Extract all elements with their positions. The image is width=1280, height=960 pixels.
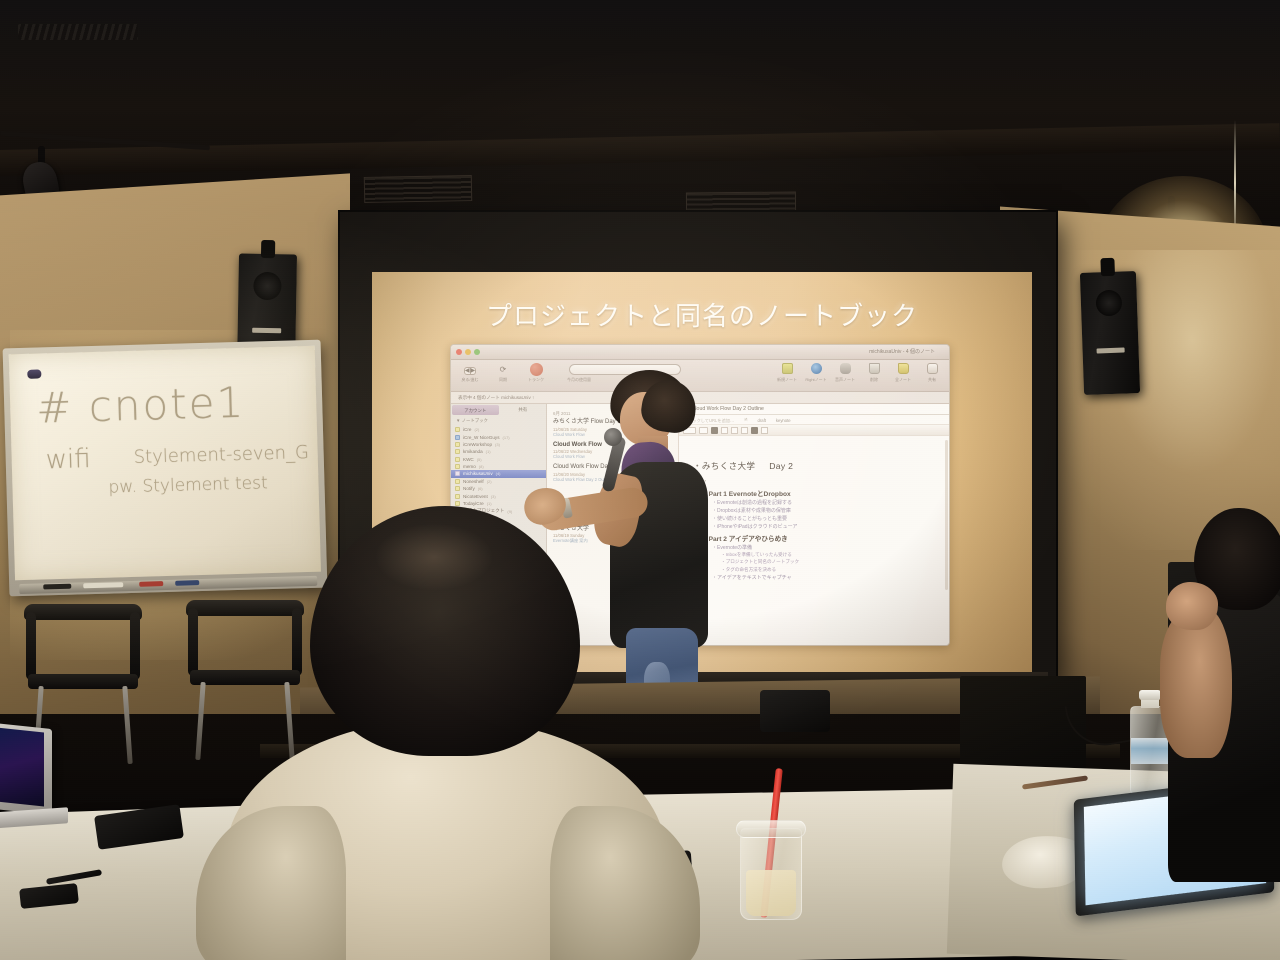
speaker-right — [1080, 271, 1140, 395]
editor-line: みちくさ大学Day 2 — [693, 460, 943, 472]
speaker-left-mount — [261, 240, 275, 258]
speaker-right-brand — [1097, 348, 1125, 354]
new-note-icon[interactable] — [782, 363, 793, 374]
share-icon[interactable] — [927, 363, 938, 374]
editor-meta-bar: クリックしてURLを追加… 🗎 draft keynote — [679, 415, 949, 425]
notebook-icon — [455, 427, 460, 432]
toolbar-audio-note-label: 音声ノート — [833, 377, 857, 383]
ceiling-grille-left — [18, 24, 138, 40]
notebook-count: (8) — [479, 464, 484, 469]
chair-backrest — [24, 604, 142, 620]
speaker-right-driver — [1096, 290, 1123, 317]
notebook-icon — [455, 486, 460, 491]
spotlight-arm-right — [1168, 196, 1175, 212]
tag-chip[interactable]: draft — [758, 418, 766, 423]
slide-title: プロジェクトと同名のノートブック — [372, 296, 1032, 333]
notebook-row[interactable]: Noneshelf(2) — [451, 478, 546, 485]
notebook-count: (5) — [477, 457, 482, 462]
notebook-row[interactable]: kmikanda(1) — [451, 448, 546, 455]
minimize-icon[interactable] — [465, 349, 471, 355]
notebook-count: (17) — [503, 435, 510, 440]
notebook-name: NicoteEvent — [463, 494, 488, 499]
toolbar-right-group: 新規ノート Rightノート 音声ノート 削除 — [775, 363, 944, 383]
note-snippet: Cloud Work Flow — [553, 432, 673, 437]
editor-note-title: Cloud Work Flow Day 2 Outline — [692, 406, 764, 412]
notebook-name: memo — [463, 464, 476, 469]
editor-line-trailing: Day 2 — [769, 461, 793, 471]
audience-right-hand — [1166, 582, 1218, 630]
font-family-select[interactable] — [683, 427, 696, 434]
bullet-list-icon[interactable] — [761, 427, 768, 434]
bold-icon[interactable] — [711, 427, 718, 434]
notebook-name: iCre_W NiceGuys — [463, 435, 500, 440]
whiteboard-wifi-label: wifi — [45, 444, 91, 475]
notebook-row[interactable]: iCre_W NiceGuys(17) — [451, 433, 546, 440]
speaker-right-mount — [1100, 258, 1115, 276]
sidebar-section-header: ▼ ノートブック — [451, 416, 546, 426]
notebook-icon — [455, 479, 460, 484]
whiteboard-wifi-ssid: Stylement-seven_G — [133, 442, 309, 468]
toolbar-sync[interactable]: ⟳ 同期 — [490, 363, 516, 383]
toolbar-share[interactable]: 共有 — [920, 363, 944, 383]
whiteboard-marker-red — [139, 581, 163, 587]
all-notes-icon[interactable] — [898, 363, 909, 374]
color-picker-icon[interactable] — [751, 427, 758, 434]
notebook-icon — [455, 442, 460, 447]
laptop-left-screen — [0, 727, 44, 806]
sync-icon[interactable]: ⟳ — [490, 363, 516, 376]
editor-line-blank — [702, 475, 943, 485]
notebook-icon — [455, 494, 460, 499]
notebook-name: iCreWorkshop — [463, 442, 492, 447]
toolbar-right-note-label: Rightノート — [804, 377, 828, 383]
note-title: Cloud Work Flow Day 2 — [553, 464, 673, 472]
trash-icon[interactable] — [869, 363, 880, 374]
notebook-count: (1) — [486, 449, 491, 454]
toolbar-usage-label: 今月の使用量 — [556, 377, 602, 383]
toolbar-new-note[interactable]: 新規ノート — [775, 363, 799, 383]
speaker-left-brand — [252, 328, 281, 334]
attachment-icon: 🗎 — [744, 417, 747, 424]
whiteboard-magnet — [27, 369, 41, 378]
note-list-date-header: 6月 2011 — [553, 411, 673, 417]
notebook-name: iCre — [463, 427, 471, 432]
audience-shoulder-left — [196, 806, 346, 960]
bottle-cap — [1139, 690, 1161, 700]
notebook-name: kmikanda — [463, 449, 483, 454]
align-left-icon[interactable] — [721, 427, 728, 434]
note-title: みちくさ大学 Flow Day 1 — [553, 419, 673, 427]
notebook-icon — [455, 457, 460, 462]
toolbar-all-notes[interactable]: 全ノート — [891, 363, 915, 383]
audience-shoulder-right — [550, 806, 700, 960]
notebook-row[interactable]: memo(8) — [451, 463, 546, 470]
notebook-count: (2) — [487, 479, 492, 484]
audience-hair-highlight — [376, 524, 492, 590]
toolbar-trunk-label: トランク — [523, 377, 549, 383]
notebook-row[interactable]: NicoteEvent(3) — [451, 492, 546, 499]
toolbar-back-forward-label: 戻る/進む — [457, 377, 483, 383]
sidebar-tab-shared[interactable]: 共有 — [500, 404, 547, 416]
notebook-icon — [455, 464, 460, 469]
chair-leg — [122, 686, 132, 764]
note-list-item[interactable]: Cloud Work Flow Day 2 11/06/20 Monday Cl… — [553, 464, 673, 482]
align-right-icon[interactable] — [741, 427, 748, 434]
audience-member-foreground — [190, 506, 786, 960]
notebook-row-selected[interactable]: michikusaUniv(4) — [451, 470, 546, 477]
audio-note-icon[interactable] — [840, 363, 851, 374]
search-input[interactable] — [569, 364, 681, 375]
toolbar-new-note-label: 新規ノート — [775, 377, 799, 383]
notebook-row[interactable]: KWC(5) — [451, 456, 546, 463]
notebook-row[interactable]: iCreWorkshop(3) — [451, 441, 546, 448]
notebook-row[interactable]: Notify(6) — [451, 485, 546, 492]
editor-format-toolbar[interactable] — [679, 425, 949, 436]
toolbar-back-forward[interactable]: ◀▶ 戻る/進む — [457, 363, 483, 383]
toolbar-audio-note[interactable]: 音声ノート — [833, 363, 857, 383]
notebook-icon — [455, 471, 460, 476]
notebook-icon — [455, 435, 460, 440]
room-photo-scene: プロジェクトと同名のノートブック michikusaUniv - 4 個のノート… — [0, 0, 1280, 960]
chair-post-left — [26, 612, 36, 680]
align-center-icon[interactable] — [731, 427, 738, 434]
toolbar-share-label: 共有 — [920, 377, 944, 383]
back-forward-icon[interactable]: ◀▶ — [457, 363, 483, 376]
notebook-count: (4) — [496, 471, 501, 476]
note-snippet: Cloud Work Flow Day 2 Outline — [553, 477, 673, 482]
note-list-item-selected[interactable]: Cloud Work Flow 11/06/22 Wednesday Cloud… — [553, 442, 673, 460]
laptop-left — [0, 726, 58, 822]
audience-right-arm — [1160, 608, 1232, 758]
zoom-icon[interactable] — [474, 349, 480, 355]
toolbar-trunk[interactable]: トランク — [523, 363, 549, 383]
notebook-list: iCre(2) iCre_W NiceGuys(17) iCreWorkshop… — [451, 426, 546, 516]
notebook-name: Notify — [463, 486, 475, 491]
notebook-name: michikusaUniv — [463, 471, 493, 476]
notebook-name: Noneshelf — [463, 479, 484, 484]
window-traffic-lights[interactable] — [456, 349, 480, 355]
whiteboard-wifi-password: pw. Stylement test — [108, 473, 268, 497]
notebook-count: (6) — [478, 486, 483, 491]
ceiling-vent-left — [364, 175, 472, 203]
editor-line-text: みちくさ大学 — [702, 461, 755, 471]
window-title: michikusaUniv - 4 個のノート — [869, 348, 935, 355]
notebook-row[interactable]: iCre(2) — [451, 426, 546, 433]
trunk-icon[interactable] — [523, 363, 549, 376]
tag-chip[interactable]: keynote — [776, 418, 791, 423]
speaker-left-driver — [253, 272, 281, 300]
sidebar-tab-account[interactable]: アカウント — [452, 405, 499, 415]
window-titlebar: michikusaUniv - 4 個のノート — [451, 345, 949, 360]
editor-line: Evernoteは創造の過程を記録する — [712, 499, 943, 506]
font-size-select[interactable] — [699, 427, 708, 434]
toolbar-sync-label: 同期 — [490, 377, 516, 383]
app-toolbar: ◀▶ 戻る/進む ⟳ 同期 トランク 今月の使用量 — [451, 360, 949, 392]
editor-scrollbar[interactable] — [945, 440, 948, 590]
note-title: Cloud Work Flow — [553, 442, 673, 450]
notebook-count: (3) — [491, 494, 496, 499]
pin-icon[interactable]: ⚑ — [684, 406, 689, 412]
toolbar-all-notes-label: 全ノート — [891, 377, 915, 383]
notebook-count: (3) — [495, 442, 500, 447]
right-note-icon[interactable] — [811, 363, 822, 374]
note-snippet: Cloud Work Flow — [553, 454, 673, 459]
breadcrumb: 表示中 4 個のノート michikusaUniv ↑ — [451, 392, 949, 404]
notebook-icon — [455, 449, 460, 454]
toolbar-right-note[interactable]: Rightノート — [804, 363, 828, 383]
notebook-count: (2) — [474, 427, 479, 432]
whiteboard-eraser — [83, 582, 123, 588]
editor-line: Part 1 EvernoteとDropbox — [702, 488, 943, 498]
close-icon[interactable] — [456, 349, 462, 355]
note-list-item[interactable]: みちくさ大学 Flow Day 1 11/06/25 Saturday Clou… — [553, 419, 673, 437]
whiteboard-hashtag: # cnote1 — [36, 378, 246, 433]
audience-member-right — [1160, 508, 1280, 960]
whiteboard-marker-black — [43, 584, 71, 590]
toolbar-trash-label: 削除 — [862, 377, 886, 383]
notebook-name: KWC — [463, 457, 474, 462]
sidebar-tabs[interactable]: アカウント 共有 — [451, 404, 546, 416]
editor-note-title-bar[interactable]: ⚑Cloud Work Flow Day 2 Outline — [679, 404, 949, 415]
chair-post-right — [130, 612, 140, 680]
toolbar-trash[interactable]: 削除 — [862, 363, 886, 383]
url-hint[interactable]: クリックしてURLを追加… — [684, 418, 734, 424]
